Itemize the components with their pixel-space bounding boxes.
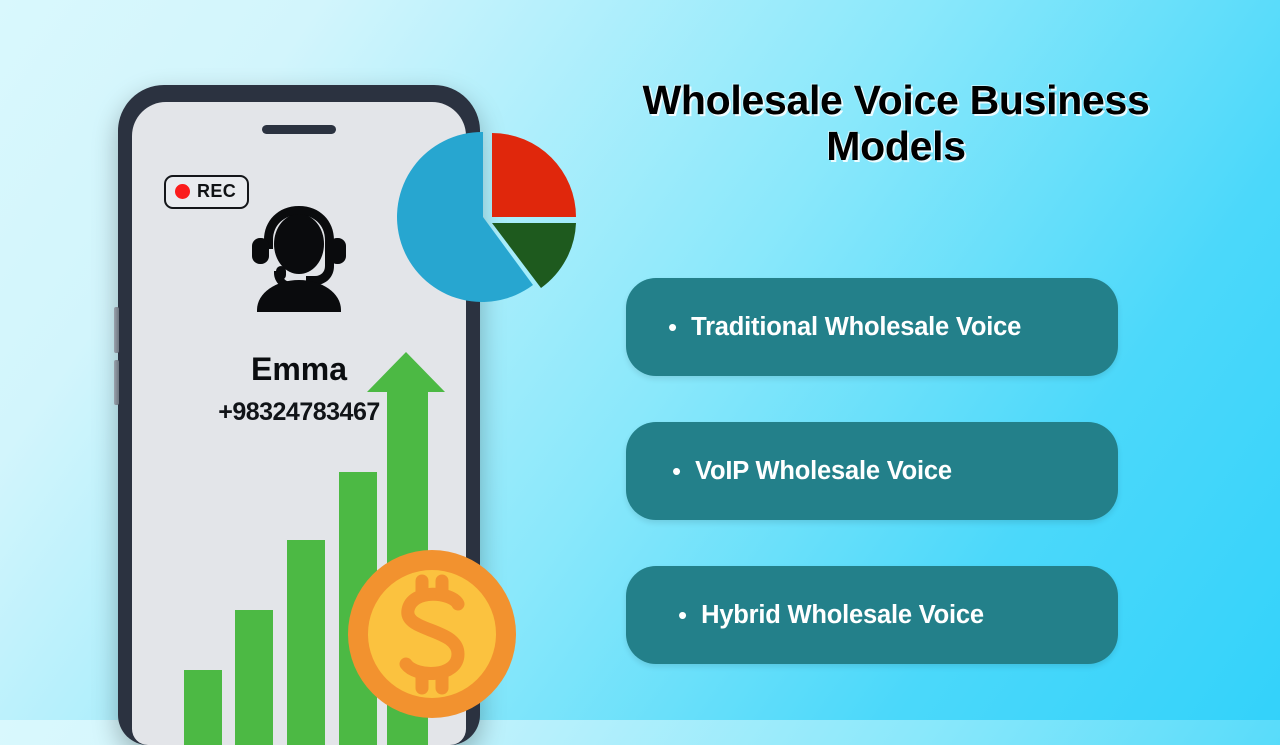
list-item-label: VoIP Wholesale Voice [695,457,952,486]
volume-up-button[interactable] [114,307,119,353]
content-column: Wholesale Voice Business Models • Tradit… [590,78,1210,170]
list-item[interactable]: • VoIP Wholesale Voice [626,422,1118,520]
page-title: Wholesale Voice Business Models [590,78,1202,170]
volume-down-button[interactable] [114,360,119,405]
list-item[interactable]: • Traditional Wholesale Voice [626,278,1118,376]
dollar-coin-icon [346,548,518,720]
list-item-label: Hybrid Wholesale Voice [701,601,984,630]
list-item[interactable]: • Hybrid Wholesale Voice [626,566,1118,664]
list-item-label: Traditional Wholesale Voice [691,313,1021,342]
infographic-canvas: REC [0,0,1280,720]
business-models-list: • Traditional Wholesale Voice • VoIP Who… [626,278,1118,710]
pie-chart-icon [397,127,577,307]
